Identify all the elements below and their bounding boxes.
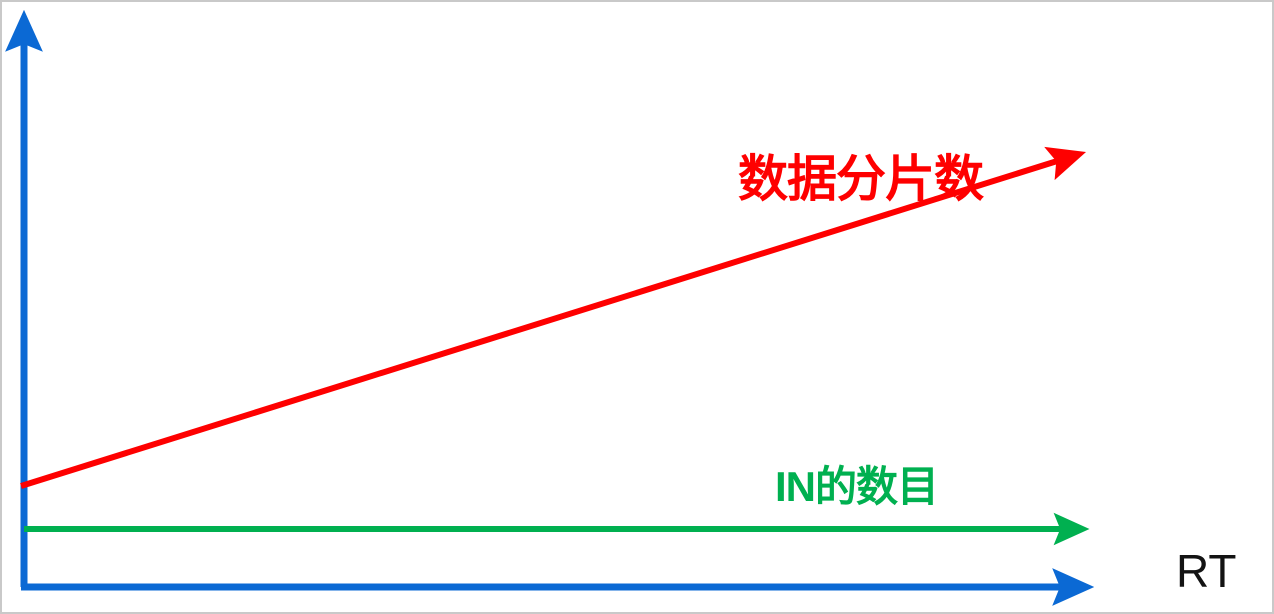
chart-svg [2,2,1274,614]
series-label-red: 数据分片数 [738,154,983,204]
diagram-canvas: 数据分片数 IN的数目 RT [0,0,1274,614]
series-label-green: IN的数目 [775,466,938,508]
x-axis-label: RT [1176,548,1237,594]
